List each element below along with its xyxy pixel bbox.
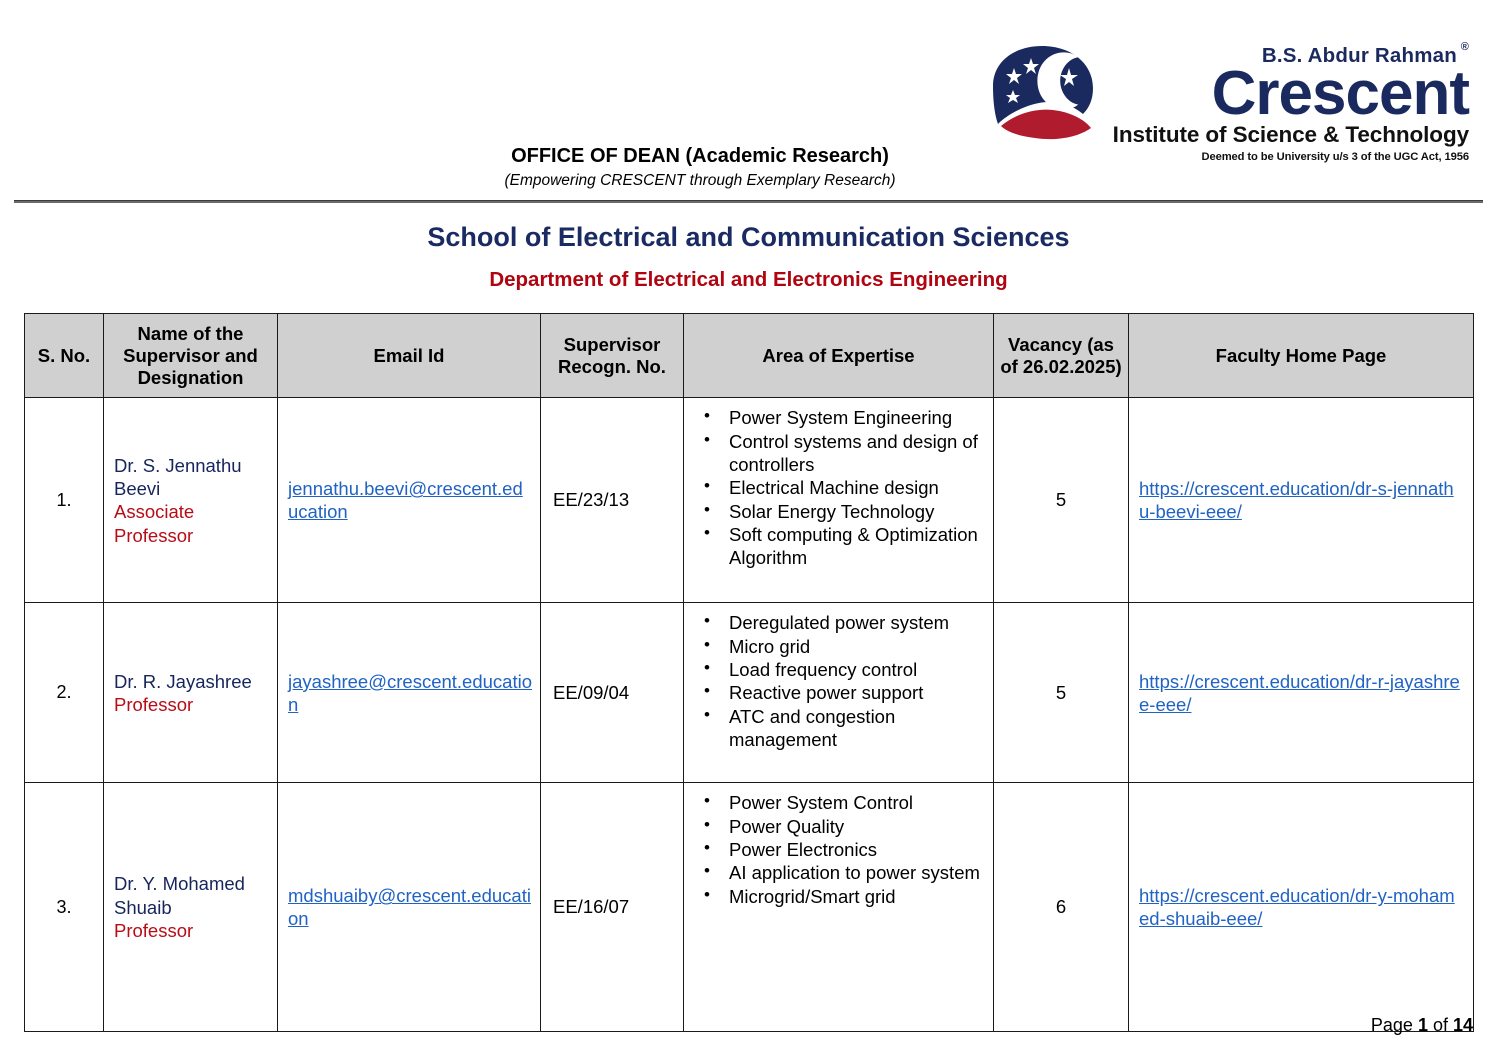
cell-recogn: EE/09/04 [541,603,684,783]
supervisor-name: Dr. S. Jennathu Beevi [114,454,267,501]
cell-email: mdshuaiby@crescent.education [278,783,541,1032]
cell-email: jennathu.beevi@crescent.education [278,398,541,603]
cell-sno: 1. [25,398,104,603]
department-title: Department of Electrical and Electronics… [0,268,1497,292]
logo-brand-main: Crescent [1212,65,1469,123]
office-title: OFFICE OF DEAN (Academic Research) [0,145,1400,168]
registered-mark-icon: ® [1461,42,1469,53]
expertise-item: Power Electronics [688,838,987,861]
supervisor-designation: Professor [114,693,267,716]
crescent-emblem-icon [985,42,1107,140]
cell-recogn: EE/23/13 [541,398,684,603]
logo-brand-top-text: B.S. Abdur Rahman [1262,44,1457,67]
expertise-item: Power System Control [688,791,987,814]
cell-email: jayashree@crescent.education [278,603,541,783]
cell-homepage: https://crescent.education/dr-y-mohamed-… [1129,783,1474,1032]
homepage-link[interactable]: https://crescent.education/dr-s-jennathu… [1139,478,1454,522]
cell-area: Power System Engineering Control systems… [684,398,994,603]
cell-recogn: EE/16/07 [541,783,684,1032]
email-link[interactable]: jayashree@crescent.education [288,671,532,715]
table-header-row: S. No. Name of the Supervisor and Design… [25,314,1474,398]
cell-sno: 2. [25,603,104,783]
expertise-item: Micro grid [688,635,987,658]
cell-area: Deregulated power system Micro grid Load… [684,603,994,783]
expertise-item: Power System Engineering [688,406,987,429]
cell-vacancy: 6 [994,783,1129,1032]
column-header-sno: S. No. [25,314,104,398]
cell-area: Power System Control Power Quality Power… [684,783,994,1032]
table-row: 1. Dr. S. Jennathu Beevi Associate Profe… [25,398,1474,603]
footer-page-middle: of [1428,1015,1453,1035]
supervisor-designation: Associate Professor [114,500,267,547]
cell-vacancy: 5 [994,603,1129,783]
cell-name: Dr. R. Jayashree Professor [104,603,278,783]
column-header-vacancy: Vacancy (as of 26.02.2025) [994,314,1129,398]
cell-homepage: https://crescent.education/dr-r-jayashre… [1129,603,1474,783]
supervisor-name: Dr. R. Jayashree [114,670,267,693]
expertise-item: Electrical Machine design [688,476,987,499]
homepage-link[interactable]: https://crescent.education/dr-y-mohamed-… [1139,885,1455,929]
expertise-item: ATC and congestion management [688,705,987,752]
expertise-item: AI application to power system [688,861,987,884]
footer-page-total: 14 [1453,1015,1473,1035]
expertise-item: Deregulated power system [688,611,987,634]
cell-name: Dr. Y. Mohamed Shuaib Professor [104,783,278,1032]
expertise-list: Power System Control Power Quality Power… [688,791,987,907]
column-header-area: Area of Expertise [684,314,994,398]
footer-page-number: 1 [1418,1015,1428,1035]
expertise-item: Control systems and design of controller… [688,430,987,477]
expertise-item: Solar Energy Technology [688,500,987,523]
school-title: School of Electrical and Communication S… [0,222,1497,253]
expertise-item: Power Quality [688,815,987,838]
homepage-link[interactable]: https://crescent.education/dr-r-jayashre… [1139,671,1460,715]
supervisor-table: S. No. Name of the Supervisor and Design… [24,313,1474,1032]
footer-page-prefix: Page [1371,1015,1418,1035]
expertise-list: Deregulated power system Micro grid Load… [688,611,987,751]
table-row: 3. Dr. Y. Mohamed Shuaib Professor mdshu… [25,783,1474,1032]
office-subtitle: (Empowering CRESCENT through Exemplary R… [0,172,1400,190]
column-header-email: Email Id [278,314,541,398]
logo-brand-top: B.S. Abdur Rahman ® [1262,46,1469,67]
document-page: B.S. Abdur Rahman ® Crescent Institute o… [0,0,1497,1058]
expertise-item: Reactive power support [688,681,987,704]
supervisor-name: Dr. Y. Mohamed Shuaib [114,872,267,919]
cell-sno: 3. [25,783,104,1032]
column-header-home: Faculty Home Page [1129,314,1474,398]
table-row: 2. Dr. R. Jayashree Professor jayashree@… [25,603,1474,783]
header-divider [14,200,1483,203]
cell-vacancy: 5 [994,398,1129,603]
email-link[interactable]: mdshuaiby@crescent.education [288,885,531,929]
page-footer: Page 1 of 14 [1371,1015,1473,1036]
email-link[interactable]: jennathu.beevi@crescent.education [288,478,523,522]
expertise-list: Power System Engineering Control systems… [688,406,987,569]
letterhead: B.S. Abdur Rahman ® Crescent Institute o… [0,0,1497,202]
cell-name: Dr. S. Jennathu Beevi Associate Professo… [104,398,278,603]
column-header-recogn: Supervisor Recogn. No. [541,314,684,398]
supervisor-designation: Professor [114,919,267,942]
expertise-item: Soft computing & Optimization Algorithm [688,523,987,570]
cell-homepage: https://crescent.education/dr-s-jennathu… [1129,398,1474,603]
expertise-item: Microgrid/Smart grid [688,885,987,908]
expertise-item: Load frequency control [688,658,987,681]
column-header-name: Name of the Supervisor and Designation [104,314,278,398]
